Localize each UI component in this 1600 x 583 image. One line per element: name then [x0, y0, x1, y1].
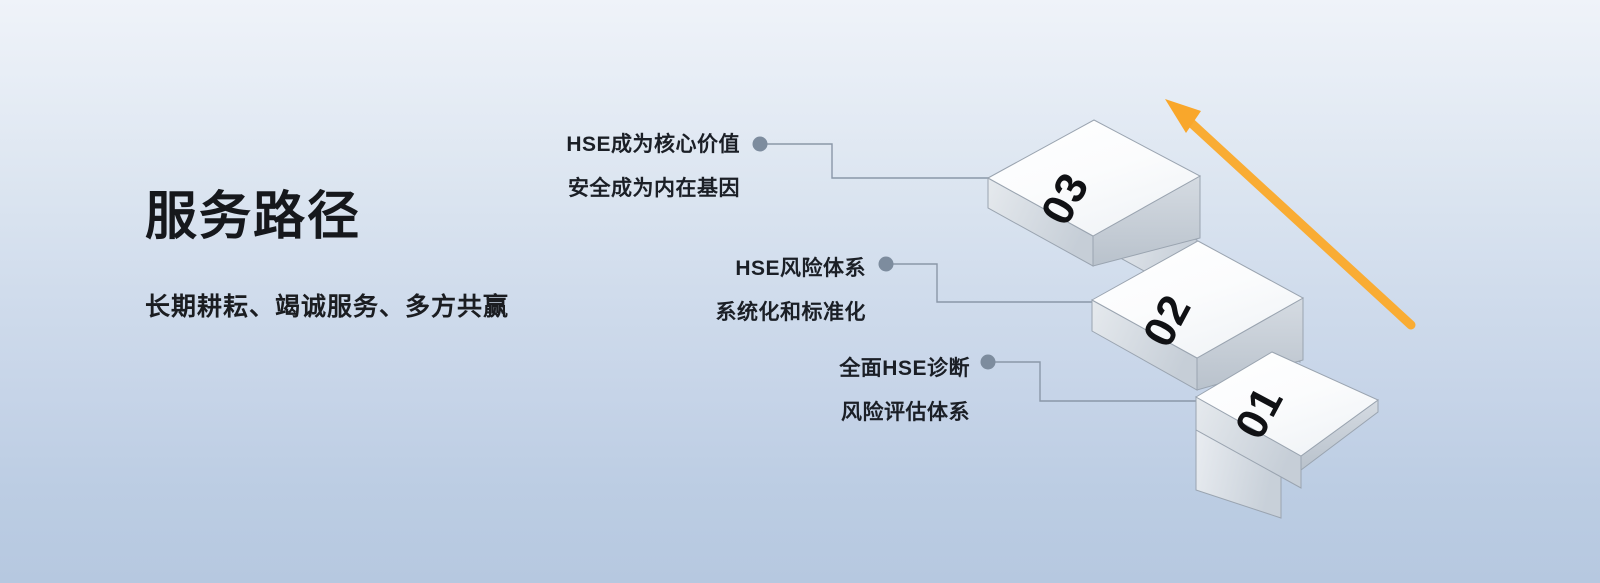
connector-dot-03	[753, 137, 768, 152]
infographic-canvas: 服务路径 长期耕耘、竭诚服务、多方共赢 HSE成为核心价值 安全成为内在基因 H…	[0, 0, 1600, 583]
connector-dot-02	[879, 257, 894, 272]
staircase-scene: 03 02 01	[0, 0, 1600, 583]
connector-dots	[753, 137, 996, 370]
connector-line-02	[893, 264, 1096, 302]
connector-line-03	[766, 144, 992, 178]
connector-dot-01	[981, 355, 996, 370]
